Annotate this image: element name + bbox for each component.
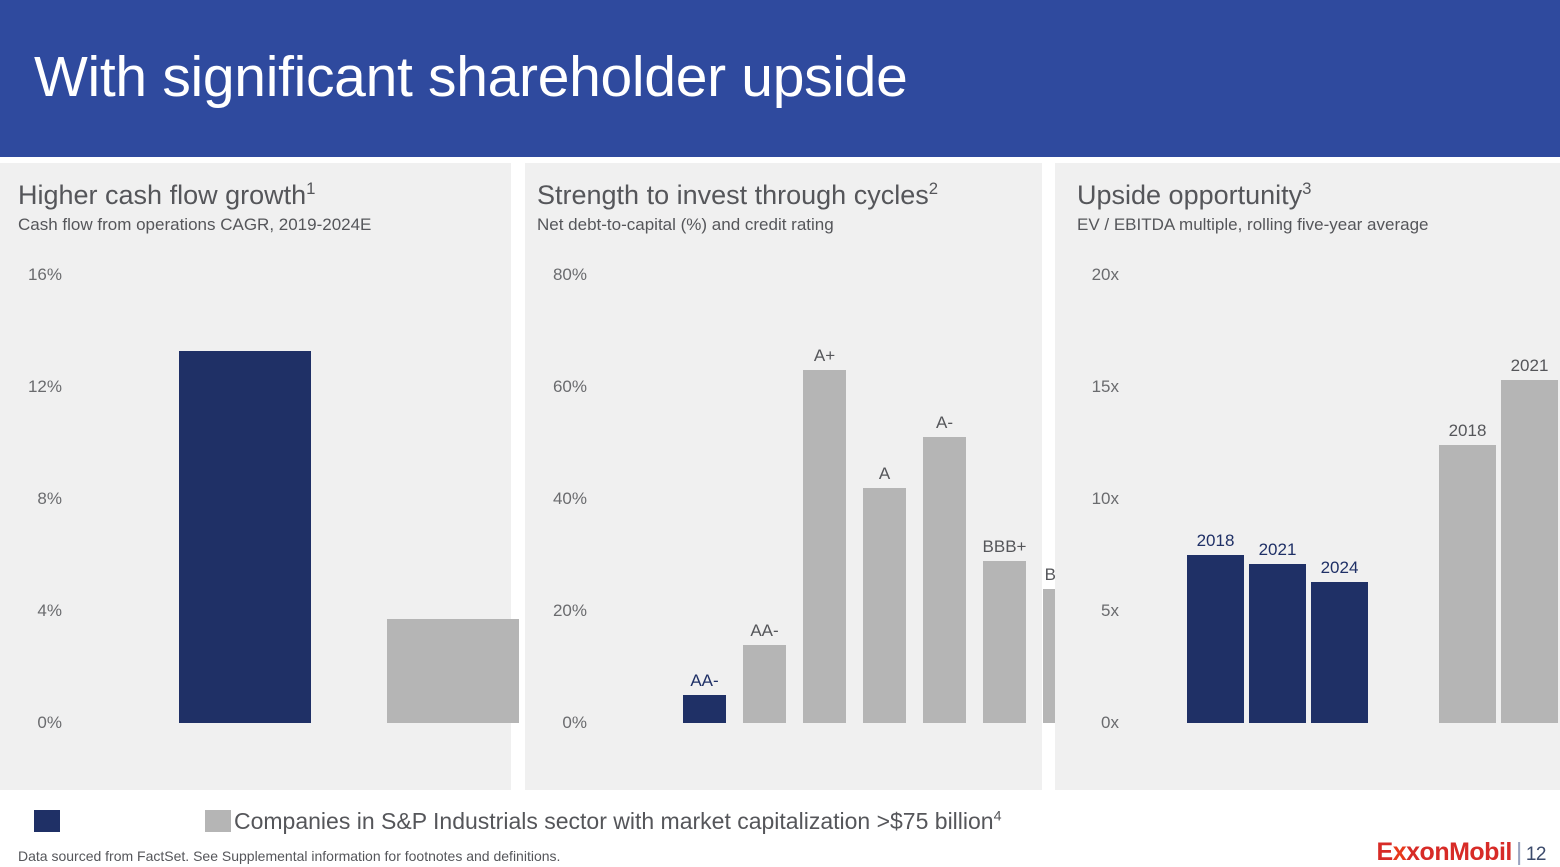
bar-peer-4 <box>923 437 966 723</box>
bar-value-label: 2024 <box>1321 558 1359 578</box>
bar-value-label: AA- <box>690 671 718 691</box>
chart-net-debt-to-capital: 0%20%40%60%80%AA-AA-A+AA-BBB+BBB- <box>537 268 1042 738</box>
y-axis-tick-label: 20% <box>537 601 587 621</box>
bar-peer-2 <box>803 370 846 723</box>
bar-value-label: A- <box>936 413 953 433</box>
bar-value-label: BBB+ <box>983 537 1027 557</box>
y-axis-tick-label: 0% <box>537 713 587 733</box>
panel-1-subtitle: Cash flow from operations CAGR, 2019-202… <box>18 215 371 235</box>
panel-2-footnote-marker: 2 <box>929 179 938 198</box>
panel-3-subtitle: EV / EBITDA multiple, rolling five-year … <box>1077 215 1428 235</box>
bar-value-label: 2021 <box>1259 540 1297 560</box>
bar-value-label: A+ <box>814 346 835 366</box>
bar-exxonmobil <box>683 695 726 723</box>
page-title: With significant shareholder upside <box>34 44 907 110</box>
slide-root: With significant shareholder upside High… <box>0 0 1560 867</box>
bar-peer-5 <box>983 561 1026 723</box>
chart-legend: ExxonMobil Companies in S&P Industrials … <box>0 800 1560 840</box>
panel-strength-to-invest: Strength to invest through cycles2 Net d… <box>525 163 1042 790</box>
y-axis-tick-label: 10x <box>1077 489 1119 509</box>
y-axis-tick-label: 5x <box>1077 601 1119 621</box>
legend-swatch-exxonmobil <box>34 810 60 832</box>
slide-header-band: With significant shareholder upside <box>0 0 1560 157</box>
bar-peer-1 <box>743 645 786 723</box>
bar-value-label: 2021 <box>1511 356 1549 376</box>
bar-peers-2018 <box>1439 445 1496 723</box>
legend-swatch-peers <box>205 810 231 832</box>
panel-upside-opportunity: Upside opportunity3 EV / EBITDA multiple… <box>1055 163 1560 790</box>
bar-value-label: 2018 <box>1449 421 1487 441</box>
bar-exxonmobil <box>179 351 311 723</box>
y-axis-tick-label: 8% <box>20 489 62 509</box>
y-axis-tick-label: 60% <box>537 377 587 397</box>
panel-2-subtitle: Net debt-to-capital (%) and credit ratin… <box>537 215 834 235</box>
y-axis-tick-label: 16% <box>20 265 62 285</box>
bar-peer-3 <box>863 488 906 723</box>
source-footnote: Data sourced from FactSet. See Supplemen… <box>18 848 560 864</box>
panel-1-title: Higher cash flow growth1 <box>18 179 315 211</box>
y-axis-tick-label: 0% <box>20 713 62 733</box>
chart-cash-flow-growth: 0%4%8%12%16% <box>20 268 500 738</box>
bar-value-label: 2018 <box>1197 531 1235 551</box>
y-axis-tick-label: 12% <box>20 377 62 397</box>
y-axis-tick-label: 0x <box>1077 713 1119 733</box>
panel-cash-flow-growth: Higher cash flow growth1 Cash flow from … <box>0 163 511 790</box>
y-axis-tick-label: 20x <box>1077 265 1119 285</box>
bar-value-label: A <box>879 464 890 484</box>
y-axis-tick-label: 15x <box>1077 377 1119 397</box>
bar-value-label: AA- <box>750 621 778 641</box>
panel-3-title: Upside opportunity3 <box>1077 179 1311 211</box>
charts-row: Higher cash flow growth1 Cash flow from … <box>0 163 1560 790</box>
bar-peers <box>387 619 519 723</box>
legend-footnote-marker: 4 <box>994 808 1002 824</box>
y-axis-tick-label: 80% <box>537 265 587 285</box>
bar-peers-2021 <box>1501 380 1558 723</box>
legend-label-peers: Companies in S&P Industrials sector with… <box>234 808 1002 835</box>
exxonmobil-wordmark-footer: ExxonMobil|12 <box>1377 838 1546 867</box>
chart-ev-ebitda-multiple: 0x5x10x15x20x201820212024201820212024 <box>1077 268 1557 738</box>
y-axis-tick-label: 40% <box>537 489 587 509</box>
bar-exxonmobil-2024 <box>1311 582 1368 723</box>
panel-3-footnote-marker: 3 <box>1302 179 1311 198</box>
y-axis-tick-label: 4% <box>20 601 62 621</box>
bar-exxonmobil-2021 <box>1249 564 1306 723</box>
page-number: 12 <box>1526 844 1546 865</box>
panel-1-footnote-marker: 1 <box>306 179 315 198</box>
panel-2-title: Strength to invest through cycles2 <box>537 179 938 211</box>
bar-exxonmobil-2018 <box>1187 555 1244 723</box>
